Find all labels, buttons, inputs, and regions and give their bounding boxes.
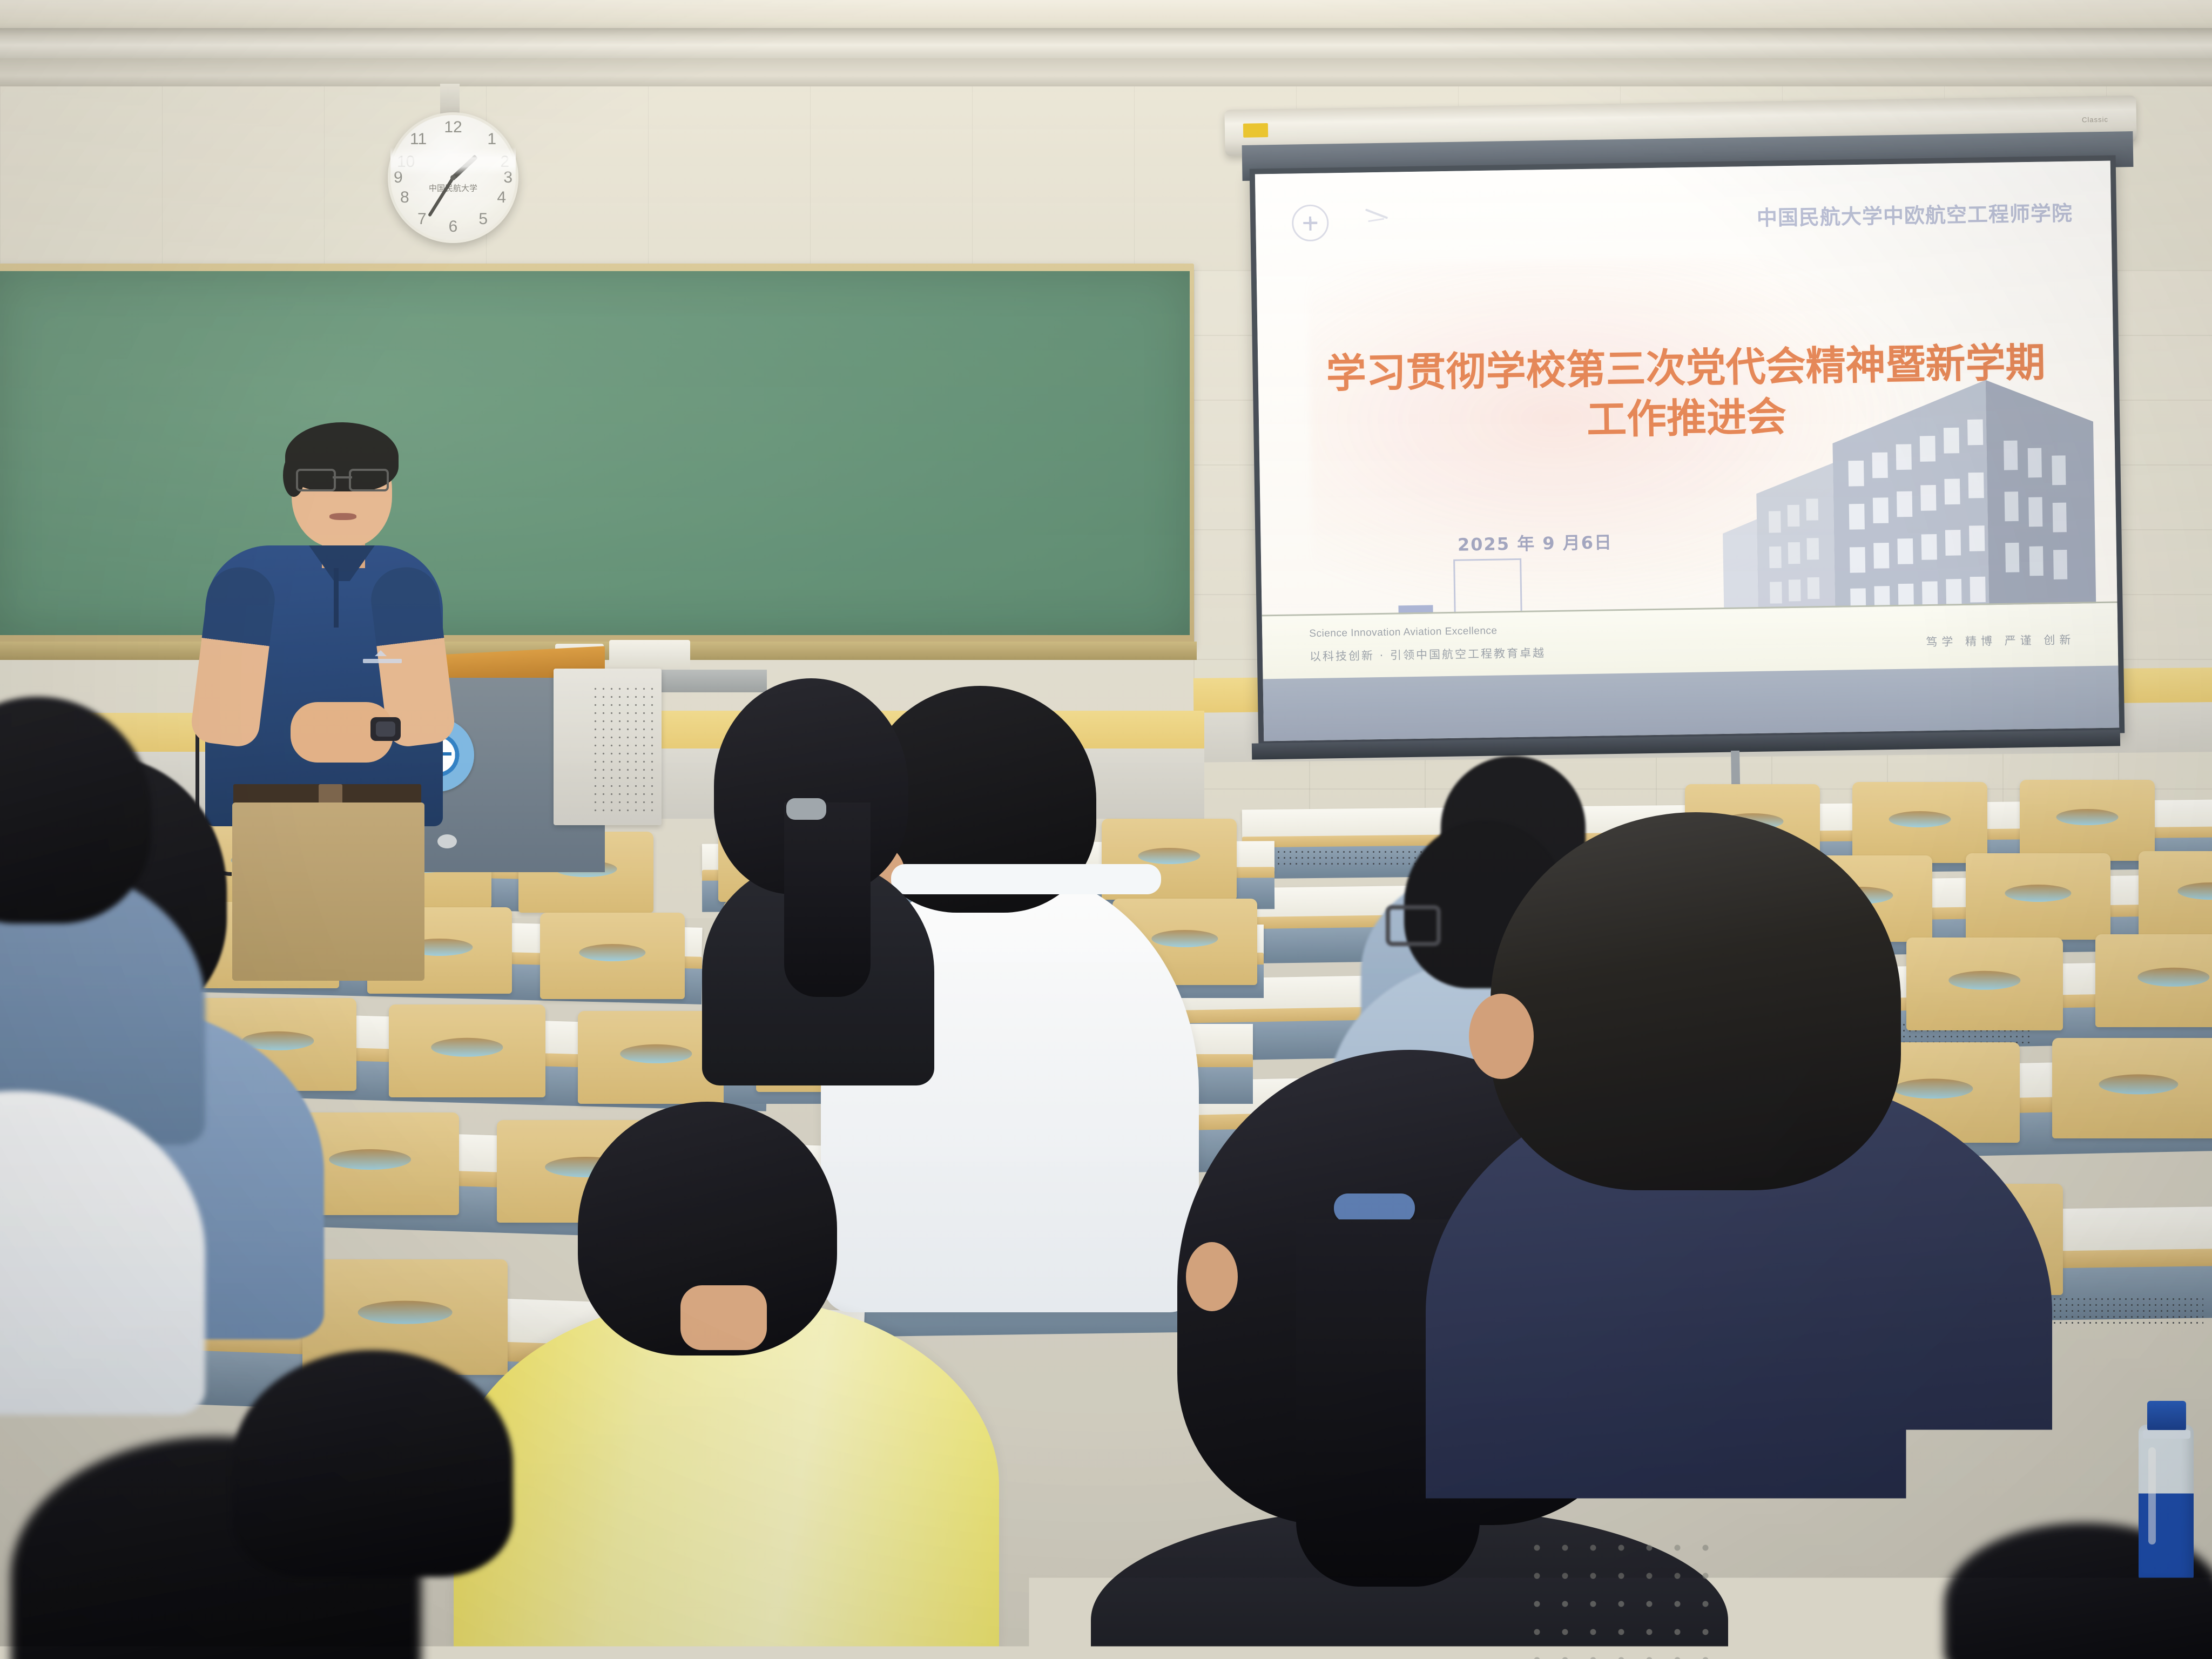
lecture-chair xyxy=(1966,853,2110,940)
attendee-neck xyxy=(680,1285,767,1350)
slide-footer-english: Science Innovation Aviation Excellence xyxy=(1309,625,1498,640)
attendee-hair xyxy=(232,1350,513,1577)
wall-clock: 12 1 2 3 4 5 6 7 8 9 10 11 中国民航大学 xyxy=(388,112,518,243)
slide-footer-chinese: 以科技创新 · 引领中国航空工程教育卓越 xyxy=(1310,644,1546,664)
projection-screen-border: 中国民航大学中欧航空工程师学院 学习贯彻学校第三次党代会精神暨新学期 工作推进会… xyxy=(1250,155,2125,746)
clock-numeral-12: 12 xyxy=(444,118,462,137)
bottle-cap xyxy=(2147,1401,2186,1431)
shirt-collar xyxy=(891,864,1161,894)
attendee-ear xyxy=(1469,994,1534,1079)
lecture-chair xyxy=(2020,780,2155,861)
shirt-chest-logo xyxy=(363,650,402,666)
slide-footer-motto: 笃学 精博 严谨 创新 xyxy=(1926,631,2075,650)
eyeglasses-icon xyxy=(296,469,389,488)
aircraft-mark-icon xyxy=(1361,207,1392,234)
clock-numeral-10: 10 xyxy=(397,153,415,171)
slide-date: 2025 年 9 月6日 xyxy=(1458,529,1613,556)
attendee-hair xyxy=(1491,812,1901,1190)
water-bottle xyxy=(2139,1425,2194,1581)
chalkboard-frame xyxy=(0,264,1194,647)
wristwatch-icon xyxy=(370,717,401,741)
clock-brand-text: 中国民航大学 xyxy=(429,182,477,193)
bottle-neck-ring xyxy=(2143,1430,2190,1439)
clock-numeral-7: 7 xyxy=(417,210,427,228)
clock-numeral-1: 1 xyxy=(487,130,496,149)
clock-numeral-5: 5 xyxy=(478,210,488,228)
belt-buckle xyxy=(319,784,342,805)
presenter-placket xyxy=(334,568,339,628)
classroom-photo: 12 1 2 3 4 5 6 7 8 9 10 11 中国民航大学 Classi… xyxy=(0,0,2212,1659)
housing-warning-label xyxy=(1243,123,1268,138)
campus-building-illustration xyxy=(1702,331,2100,632)
presentation-slide: 中国民航大学中欧航空工程师学院 学习贯彻学校第三次党代会精神暨新学期 工作推进会… xyxy=(1255,161,2119,741)
eyeglasses-icon xyxy=(1386,905,1441,946)
clock-numeral-3: 3 xyxy=(503,168,512,187)
chalkboard-surface xyxy=(0,271,1190,635)
podium-knob xyxy=(437,834,457,848)
clock-numeral-8: 8 xyxy=(400,188,409,207)
university-seal-icon xyxy=(1291,204,1328,241)
clock-numeral-6: 6 xyxy=(449,218,458,236)
ceiling-rail-secondary xyxy=(0,58,2212,90)
attendee-ear xyxy=(1186,1242,1238,1311)
projection-screen-surface: 中国民航大学中欧航空工程师学院 学习贯彻学校第三次党代会精神暨新学期 工作推进会… xyxy=(1255,161,2119,741)
bottle-highlight xyxy=(2148,1447,2156,1545)
housing-brand-text: Classic xyxy=(2082,116,2108,124)
lecture-chair xyxy=(1852,782,1987,863)
lecture-chair xyxy=(540,913,685,999)
presenter-trousers xyxy=(232,802,424,981)
lecture-chair xyxy=(2095,934,2212,1027)
lecture-chair xyxy=(2052,1038,2212,1138)
clock-center-pin xyxy=(450,175,456,180)
hair-clip xyxy=(786,798,826,820)
ponytail xyxy=(784,802,871,997)
slide-bottom-band xyxy=(1263,665,2120,741)
clock-numeral-11: 11 xyxy=(410,130,427,149)
lecture-chair xyxy=(1906,938,2063,1030)
slide-organization-text: 中国民航大学中欧航空工程师学院 xyxy=(1756,197,2073,231)
lecture-chair xyxy=(389,1004,545,1097)
lecture-chair xyxy=(2139,851,2212,938)
chalkboard-eraser xyxy=(609,640,690,672)
glasses-bridge xyxy=(333,476,352,478)
clock-numeral-4: 4 xyxy=(497,188,506,207)
blue-hair-tie xyxy=(1334,1193,1415,1223)
presenter-mouth xyxy=(329,513,356,520)
speaker-grille xyxy=(591,685,656,812)
clock-numeral-9: 9 xyxy=(394,168,403,187)
